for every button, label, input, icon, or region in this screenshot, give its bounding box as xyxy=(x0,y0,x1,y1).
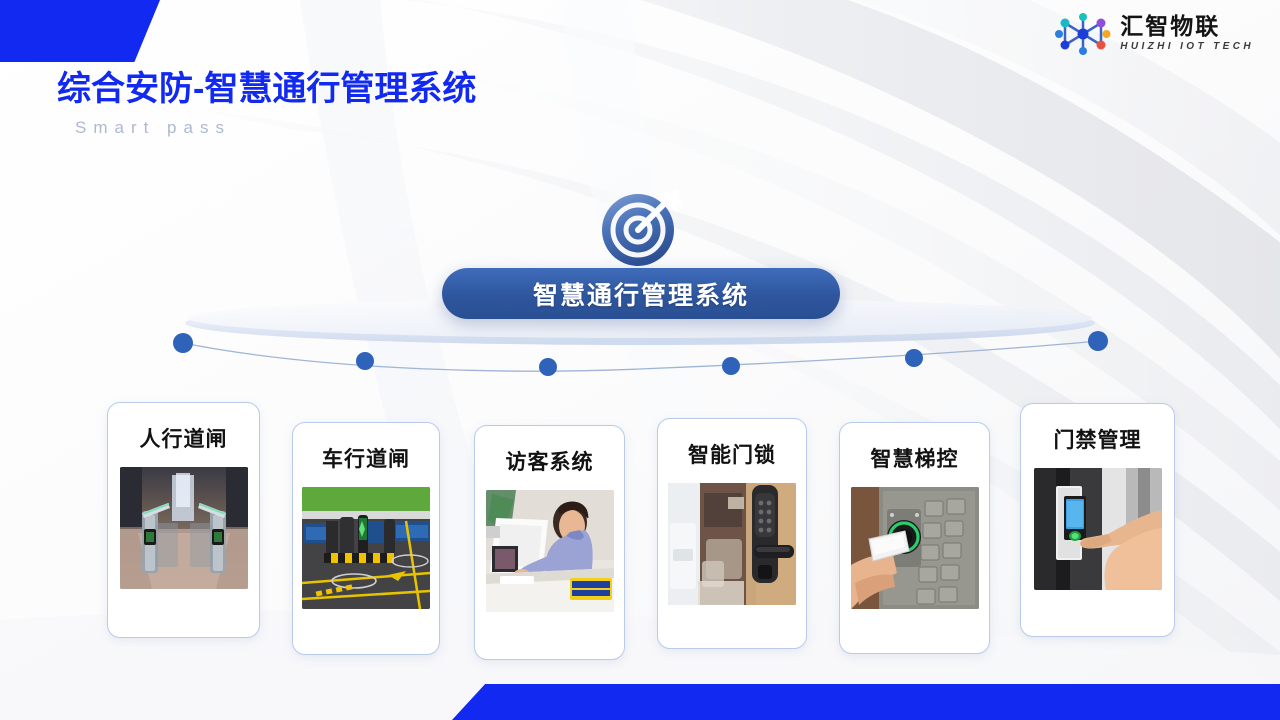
feature-card-label: 访客系统 xyxy=(506,446,594,476)
feature-card-smart-lock[interactable]: 智能门锁 xyxy=(657,418,807,649)
page-title: 综合安防-智慧通行管理系统 xyxy=(57,70,476,109)
header-block: 综合安防-智慧通行管理系统 Smart pass xyxy=(57,70,476,138)
smart-door-lock-photo xyxy=(668,483,796,605)
slide-canvas: 综合安防-智慧通行管理系统 Smart pass 汇智物联 HUIZHI xyxy=(0,0,1280,720)
hub-title-label: 智慧通行管理系统 xyxy=(533,276,749,312)
vehicle-barrier-gate-photo xyxy=(302,487,430,609)
elevator-card-reader-photo xyxy=(851,487,979,609)
feature-card-label: 人行道闸 xyxy=(140,423,228,453)
visitor-reception-photo xyxy=(486,490,614,612)
feature-card-label: 智慧梯控 xyxy=(871,443,959,473)
logo-name-cn: 汇智物联 xyxy=(1120,14,1254,38)
pedestrian-turnstile-photo xyxy=(120,467,248,589)
feature-card-label: 门禁管理 xyxy=(1054,424,1142,454)
page-subtitle: Smart pass xyxy=(75,118,476,138)
feature-card-access-control[interactable]: 门禁管理 xyxy=(1020,403,1175,637)
feature-card-elevator-control[interactable]: 智慧梯控 xyxy=(839,422,990,654)
feature-card-visitor-system[interactable]: 访客系统 xyxy=(474,425,625,660)
brand-logo: 汇智物联 HUIZHI IOT TECH xyxy=(1054,12,1254,56)
target-dart-icon xyxy=(596,184,688,272)
logo-name-en: HUIZHI IOT TECH xyxy=(1120,39,1254,54)
access-control-fingerprint-photo xyxy=(1034,468,1162,590)
feature-card-label: 车行道闸 xyxy=(322,443,410,473)
hub-title-pill: 智慧通行管理系统 xyxy=(442,268,840,319)
feature-card-label: 智能门锁 xyxy=(688,439,776,469)
feature-card-pedestrian-gate[interactable]: 人行道闸 xyxy=(107,402,260,638)
feature-card-vehicle-gate[interactable]: 车行道闸 xyxy=(292,422,440,655)
molecule-network-icon xyxy=(1054,12,1112,56)
